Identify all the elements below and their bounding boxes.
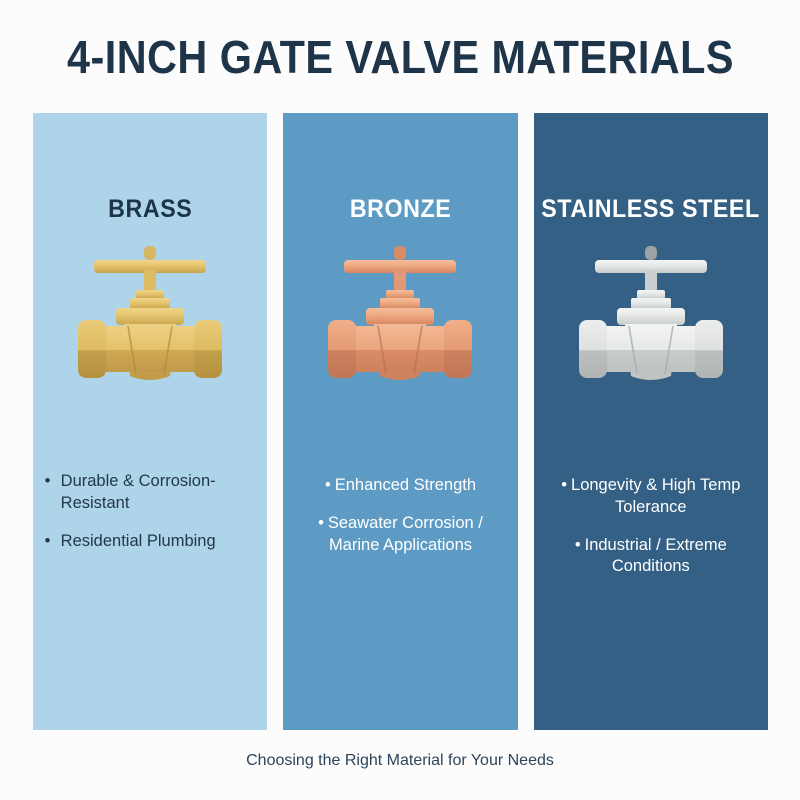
title-container: 4-Inch Gate Valve Materials: [0, 0, 800, 113]
bullet-text: Enhanced Strength: [335, 476, 476, 494]
material-column-brass[interactable]: BRASS: [33, 113, 267, 730]
bullet-list-bronze: •Enhanced Strength •Seawater Corrosion /…: [293, 475, 508, 572]
material-column-bronze[interactable]: BRONZE: [283, 113, 517, 730]
bullet-list-stainless-steel: •Longevity & High Temp Tolerance •Indust…: [543, 475, 758, 594]
gate-valve-icon: [66, 244, 234, 386]
infographic-root: 4-Inch Gate Valve Materials BRASS: [0, 0, 800, 800]
material-columns: BRASS: [33, 113, 768, 730]
gate-valve-icon: [316, 244, 484, 386]
bullet-dot-icon: •: [318, 514, 324, 532]
material-column-stainless-steel[interactable]: STAINLESS STEEL: [534, 113, 768, 730]
bullet-dot-icon: •: [45, 531, 51, 553]
column-heading-bronze: BRONZE: [350, 195, 452, 224]
bullet-dot-icon: •: [575, 536, 581, 554]
gate-valve-icon: [567, 244, 735, 386]
list-item: •Longevity & High Temp Tolerance: [543, 475, 758, 519]
column-heading-brass: BRASS: [108, 195, 192, 224]
bullet-dot-icon: •: [325, 476, 331, 494]
bullet-list-brass: •Durable & Corrosion-Resistant •Resident…: [43, 471, 258, 568]
bullet-text: Seawater Corrosion / Marine Applications: [328, 514, 483, 554]
list-item: •Residential Plumbing: [43, 531, 258, 553]
bullet-text: Industrial / Extreme Conditions: [585, 536, 727, 576]
column-heading-stainless-steel: STAINLESS STEEL: [542, 195, 761, 224]
bullet-dot-icon: •: [561, 476, 567, 494]
valve-illustration-stainless-steel: [566, 242, 736, 387]
list-item: •Enhanced Strength: [293, 475, 508, 497]
bullet-dot-icon: •: [45, 471, 51, 493]
page-title: 4-Inch Gate Valve Materials: [67, 30, 734, 84]
footer-caption: Choosing the Right Material for Your Nee…: [0, 752, 800, 770]
valve-illustration-bronze: [315, 242, 485, 387]
bullet-text: Durable & Corrosion-Resistant: [61, 472, 216, 512]
list-item: •Durable & Corrosion-Resistant: [43, 471, 258, 515]
bullet-text: Longevity & High Temp Tolerance: [571, 476, 740, 516]
list-item: •Industrial / Extreme Conditions: [543, 535, 758, 579]
valve-illustration-brass: [65, 242, 235, 387]
bullet-text: Residential Plumbing: [61, 532, 216, 550]
list-item: •Seawater Corrosion / Marine Application…: [293, 513, 508, 557]
